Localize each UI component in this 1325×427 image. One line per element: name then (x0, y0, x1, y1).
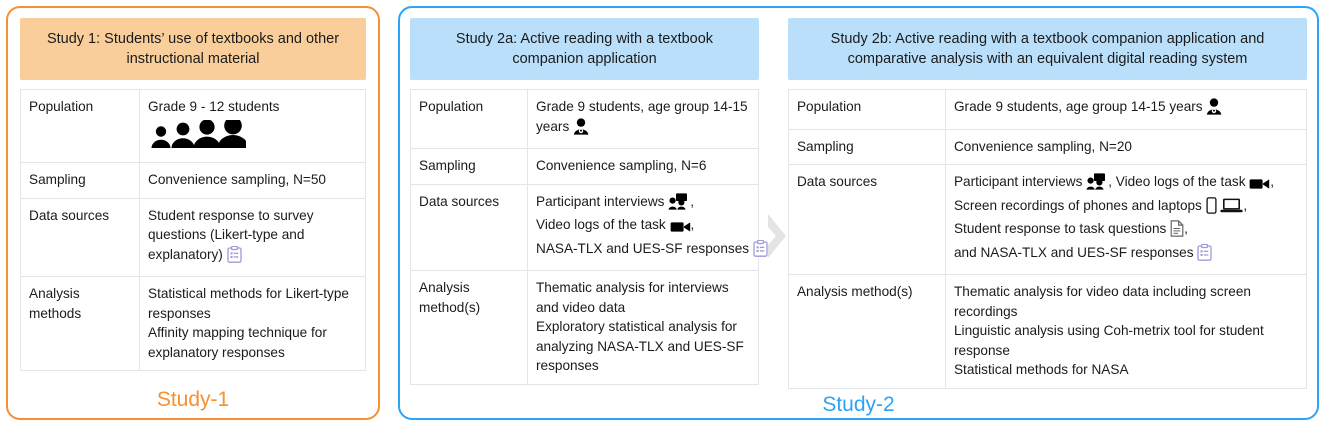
row-value-population: Grade 9 students, age group 14-15 years (528, 90, 759, 149)
data-source-line: Participant interviews , (536, 192, 750, 216)
person-badge-icon (1206, 98, 1222, 121)
row-value-analysis-methods: Thematic analysis for interviews and vid… (528, 271, 759, 385)
table-row: Data sources Participant interviews (411, 184, 759, 271)
table-row: Data sources Participant interviews (788, 165, 1306, 275)
data-source-line: Student response to task questions (954, 219, 1298, 243)
population-text: Grade 9 - 12 students (148, 99, 279, 114)
row-label-population: Population (21, 90, 140, 163)
chevron-right-icon (765, 212, 789, 260)
study1-header: Study 1: Students’ use of textbooks and … (20, 18, 366, 80)
row-value-data-sources: Student response to survey questions (Li… (140, 198, 366, 277)
row-value-population: Grade 9 - 12 students (140, 90, 366, 163)
row-label-sampling: Sampling (411, 149, 528, 185)
row-label-analysis-methods: Analysis methods (21, 277, 140, 371)
study2a-table: Population Grade 9 students, age group 1… (410, 89, 759, 385)
row-value-sampling: Convenience sampling, N=6 (528, 149, 759, 185)
row-label-population: Population (788, 90, 945, 130)
row-value-data-sources: Participant interviews , (528, 184, 759, 271)
table-row: Sampling Convenience sampling, N=6 (411, 149, 759, 185)
row-label-analysis-methods: Analysis method(s) (411, 271, 528, 385)
study1-caption: Study-1 (20, 384, 366, 414)
row-label-sampling: Sampling (21, 163, 140, 199)
population-text: Grade 9 students, age group 14-15 years (536, 99, 748, 134)
table-row: Analysis methods Statistical methods for… (21, 277, 366, 371)
row-value-analysis-methods: Statistical methods for Likert-type resp… (140, 277, 366, 371)
data-source-line: NASA-TLX and UES-SF responses (536, 239, 750, 263)
data-source-line: and NASA-TLX and UES-SF responses (954, 243, 1298, 267)
row-label-data-sources: Data sources (411, 184, 528, 271)
study2a-panel: Study 2a: Active reading with a textbook… (410, 18, 759, 385)
row-label-analysis-methods: Analysis method(s) (788, 275, 945, 389)
phone-icon (1206, 197, 1217, 220)
row-label-data-sources: Data sources (788, 165, 945, 275)
row-value-sampling: Convenience sampling, N=50 (140, 163, 366, 199)
study2-panel: Study 2a: Active reading with a textbook… (398, 6, 1319, 420)
study2-caption: Study-2 (410, 389, 1307, 419)
study2b-panel: Study 2b: Active reading with a textbook… (788, 18, 1307, 389)
clipboard-icon (227, 246, 242, 269)
interview-icon (668, 193, 690, 216)
row-value-analysis-methods: Thematic analysis for video data includi… (945, 275, 1306, 389)
row-label-sampling: Sampling (788, 129, 945, 165)
table-row: Population Grade 9 students, age group 1… (788, 90, 1306, 130)
study1-panel: Study 1: Students’ use of textbooks and … (6, 6, 380, 420)
study-overview-diagram: Study 1: Students’ use of textbooks and … (0, 0, 1325, 427)
population-text: Grade 9 students, age group 14-15 years (954, 99, 1203, 114)
table-row: Analysis method(s) Thematic analysis for… (411, 271, 759, 385)
row-label-population: Population (411, 90, 528, 149)
people-group-icon (148, 120, 357, 155)
row-value-data-sources: Participant interviews , (945, 165, 1306, 275)
video-camera-icon (670, 219, 691, 239)
document-icon (1170, 220, 1184, 243)
data-source-line: Participant interviews , (954, 172, 1298, 196)
row-value-sampling: Convenience sampling, N=20 (945, 129, 1306, 165)
table-row: Sampling Convenience sampling, N=20 (788, 129, 1306, 165)
row-label-data-sources: Data sources (21, 198, 140, 277)
clipboard-icon (1197, 244, 1212, 267)
table-row: Population Grade 9 students, age group 1… (411, 90, 759, 149)
data-source-line: Screen recordings of phones and laptops (954, 196, 1298, 220)
study2b-table: Population Grade 9 students, age group 1… (788, 89, 1307, 389)
table-row: Sampling Convenience sampling, N=50 (21, 163, 366, 199)
interview-icon (1086, 173, 1108, 196)
person-badge-icon (573, 118, 589, 141)
study1-table: Population Grade 9 - 12 students (20, 89, 366, 371)
data-source-line: Video logs of the task , (536, 215, 750, 239)
table-row: Analysis method(s) Thematic analysis for… (788, 275, 1306, 389)
row-value-population: Grade 9 students, age group 14-15 years (945, 90, 1306, 130)
video-camera-icon (1249, 176, 1270, 196)
table-row: Population Grade 9 - 12 students (21, 90, 366, 163)
laptop-icon (1220, 197, 1243, 220)
study2a-header: Study 2a: Active reading with a textbook… (410, 18, 759, 80)
table-row: Data sources Student response to survey … (21, 198, 366, 277)
study2b-header: Study 2b: Active reading with a textbook… (788, 18, 1307, 80)
